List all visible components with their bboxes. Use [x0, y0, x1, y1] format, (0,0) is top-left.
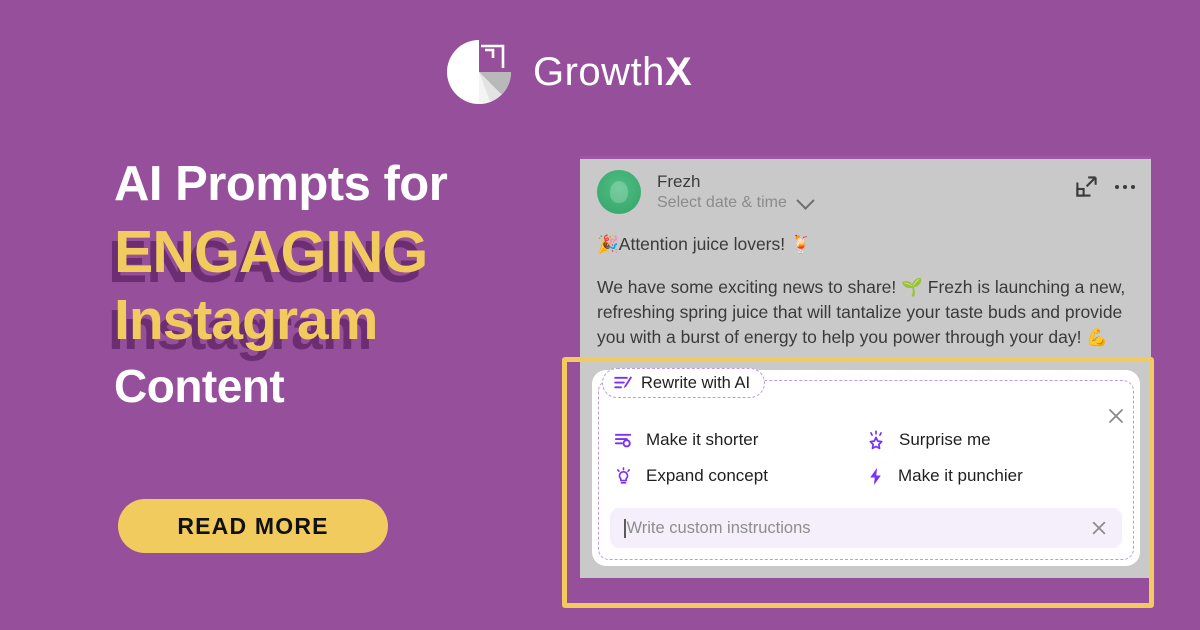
- post-paragraph-1: 🎉Attention juice lovers! 🍹: [597, 232, 1133, 257]
- brand-name-light: Growth: [533, 50, 665, 94]
- ai-option-label: Expand concept: [646, 466, 768, 486]
- account-info: Frezh Select date & time: [657, 171, 812, 212]
- headline-block: AI Prompts for ENGAGING Instagram Conten…: [114, 160, 544, 409]
- brand-logo: GrowthX: [443, 36, 692, 108]
- read-more-button[interactable]: READ MORE: [118, 499, 388, 553]
- ai-option-list: Make it shorter Surprise me: [614, 430, 1118, 486]
- panel-top-rule: [580, 156, 1151, 159]
- headline-line-3: Instagram: [114, 292, 544, 349]
- promo-banner: GrowthX AI Prompts for ENGAGING Instagra…: [0, 0, 1200, 630]
- ai-option-label: Surprise me: [899, 430, 991, 450]
- rewrite-with-ai-label: Rewrite with AI: [641, 374, 750, 393]
- lightning-bolt-icon: [866, 467, 885, 486]
- schedule-label: Select date & time: [657, 194, 787, 212]
- rewrite-with-ai-panel: Rewrite with AI Make it shorter: [592, 370, 1140, 566]
- ai-option-make-it-punchier[interactable]: Make it punchier: [866, 466, 1118, 486]
- lightbulb-icon: [614, 467, 633, 486]
- account-name: Frezh: [657, 171, 812, 192]
- post-paragraph-2: We have some exciting news to share! 🌱 F…: [597, 275, 1133, 350]
- header-actions: [1076, 176, 1135, 197]
- expand-icon[interactable]: [1076, 176, 1097, 197]
- shorten-lines-icon: [614, 431, 633, 450]
- chevron-down-icon: [796, 191, 814, 209]
- brand-name: GrowthX: [533, 52, 692, 92]
- user-avatar-icon: [597, 170, 641, 214]
- headline-line-4: Content: [114, 363, 544, 409]
- text-cursor: [624, 519, 626, 538]
- ai-option-surprise-me[interactable]: Surprise me: [866, 430, 1118, 450]
- custom-instructions-field[interactable]: Write custom instructions: [610, 508, 1122, 548]
- brand-name-bold: X: [665, 50, 692, 94]
- rewrite-ai-icon: [614, 375, 633, 392]
- rewrite-with-ai-title: Rewrite with AI: [602, 368, 765, 398]
- headline-line-2: ENGAGING: [114, 223, 544, 282]
- ai-option-label: Make it shorter: [646, 430, 758, 450]
- custom-instructions-placeholder: Write custom instructions: [627, 519, 1091, 538]
- composer-header: Frezh Select date & time: [597, 170, 1135, 220]
- close-icon[interactable]: [1106, 406, 1126, 426]
- clear-input-icon[interactable]: [1090, 519, 1108, 537]
- pie-chart-icon: [443, 36, 515, 108]
- post-text: 🎉Attention juice lovers! 🍹 We have some …: [597, 232, 1133, 349]
- sparkle-star-icon: [866, 430, 886, 450]
- schedule-selector[interactable]: Select date & time: [657, 194, 812, 212]
- ai-option-expand-concept[interactable]: Expand concept: [614, 466, 866, 486]
- ai-option-label: Make it punchier: [898, 466, 1023, 486]
- headline-line-1: AI Prompts for: [114, 160, 544, 209]
- more-options-icon[interactable]: [1115, 185, 1135, 189]
- ai-option-make-it-shorter[interactable]: Make it shorter: [614, 430, 866, 450]
